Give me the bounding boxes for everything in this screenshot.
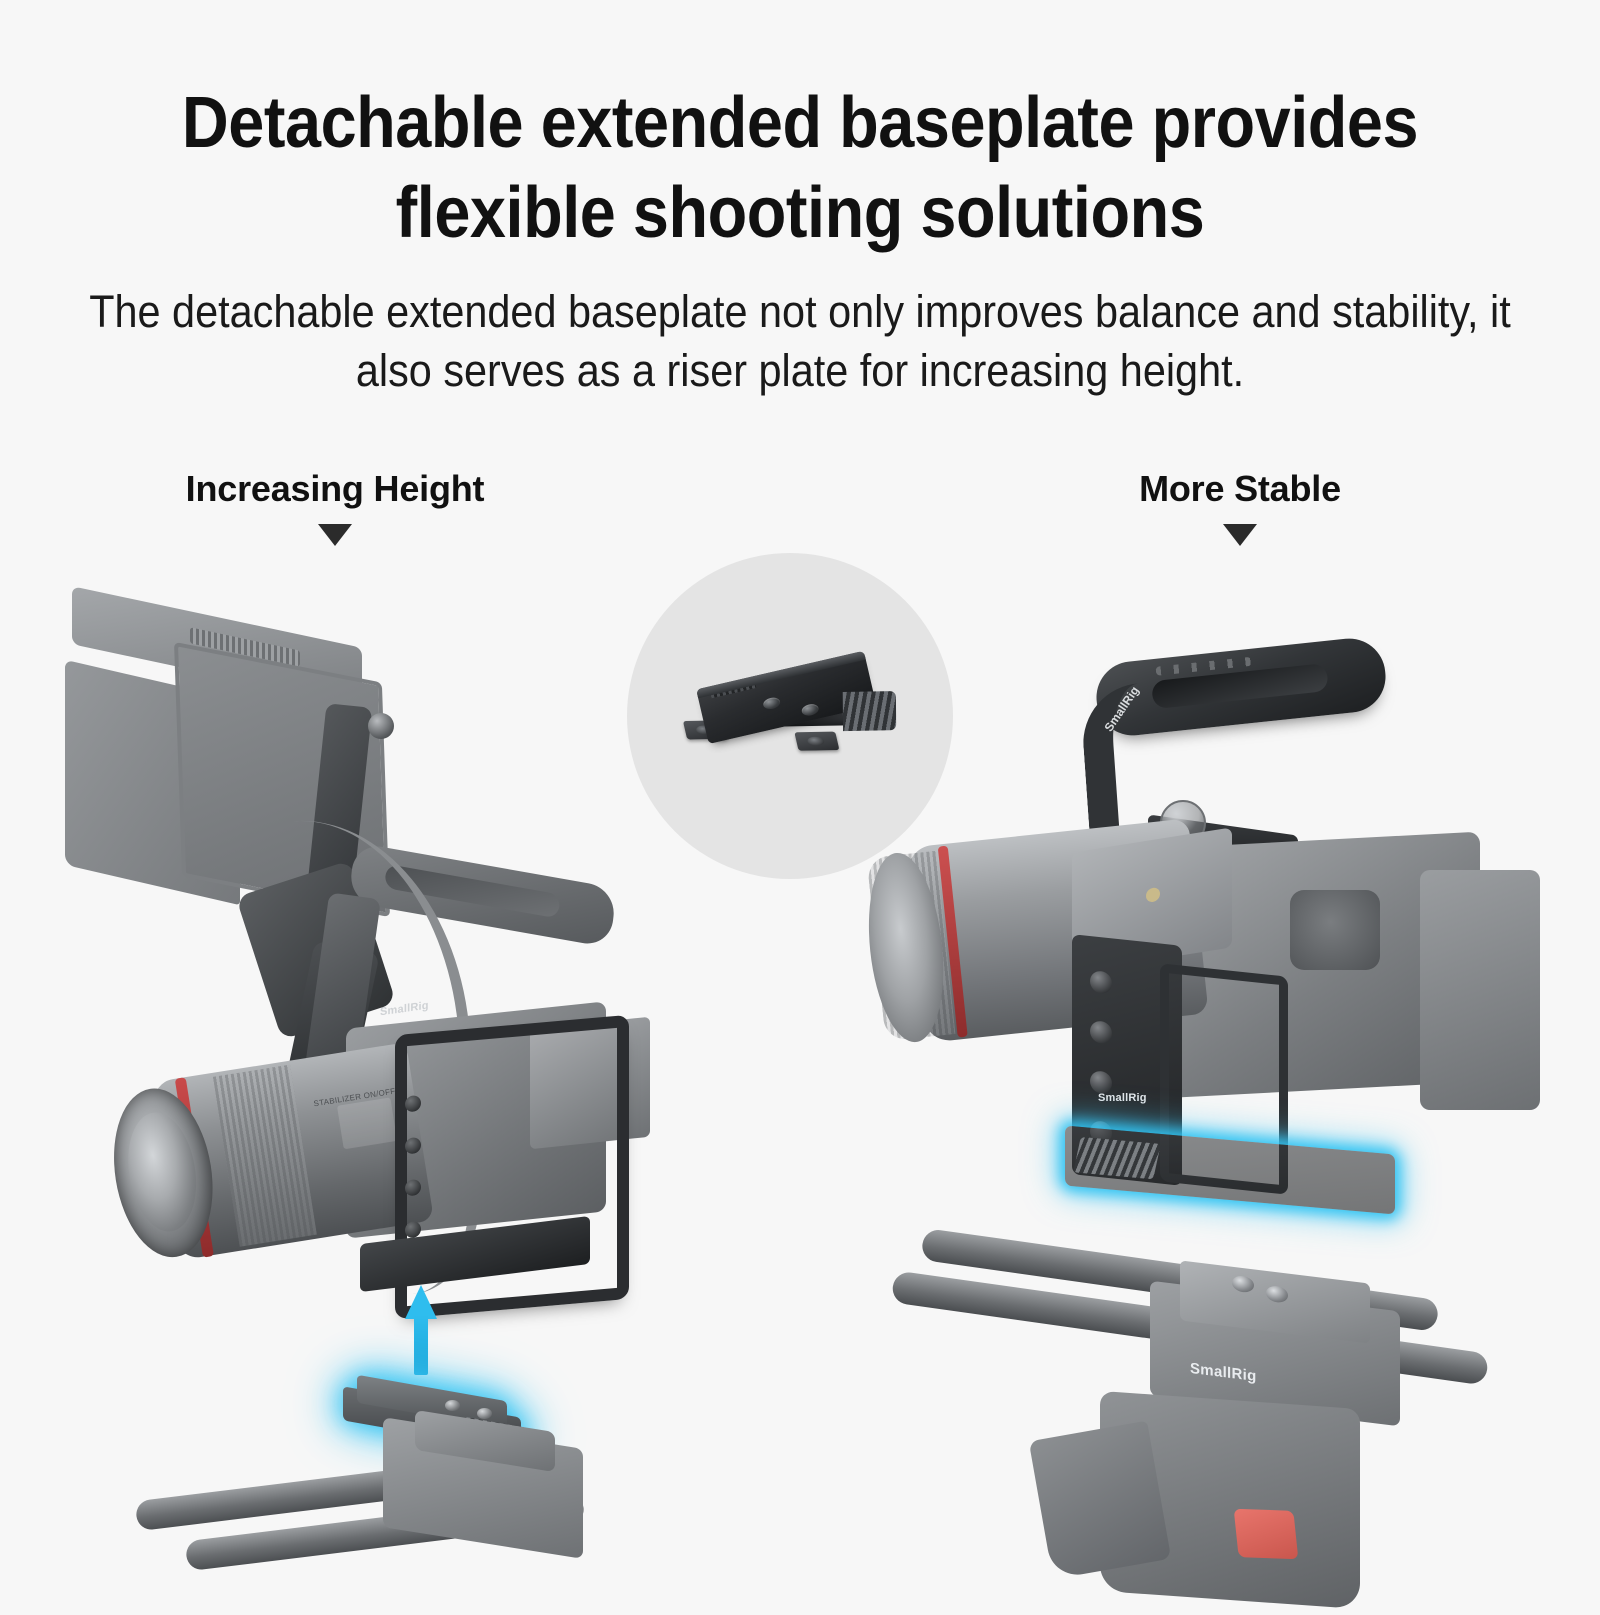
lens-switch-panel (337, 1097, 397, 1149)
right-rig-illustration: SmallRig SmallRig (860, 640, 1560, 1470)
page-subtitle: The detachable extended baseplate not on… (64, 258, 1536, 400)
tripod-pan-lever-housing (1029, 1421, 1171, 1580)
upward-arrow-icon (405, 1285, 437, 1375)
baseplate-notch (709, 678, 756, 698)
tripod-screw (1232, 1275, 1254, 1294)
tripod-fluid-head: SmallRig (890, 1240, 1550, 1600)
cage-thread-hole (1090, 1070, 1112, 1094)
cage-thread-hole (405, 1137, 421, 1154)
column-label-text: More Stable (1030, 468, 1450, 510)
marketing-page: Detachable extended baseplate provides f… (0, 0, 1600, 1600)
baseplate-mount-ear (794, 732, 839, 751)
cage-thread-hole (1090, 970, 1112, 994)
column-label-more-stable: More Stable (1030, 468, 1450, 546)
rod-riser-support (115, 1385, 675, 1615)
arrow-shaft (414, 1315, 428, 1375)
microphone-led (1146, 887, 1160, 903)
header: Detachable extended baseplate provides f… (0, 0, 1600, 400)
lens-glass (120, 1108, 204, 1237)
column-label-increasing-height: Increasing Height (125, 468, 545, 546)
cage-thread-hole (405, 1095, 421, 1112)
camera-viewfinder (1290, 890, 1380, 970)
cage-thread-hole (1090, 1020, 1112, 1044)
cage-thread-hole (405, 1179, 421, 1196)
triangle-down-icon (318, 524, 352, 546)
screw-hole (807, 737, 825, 746)
smallrig-logo-text: SmallRig (1098, 1092, 1147, 1104)
baseplate-anti-slip-ridges (1073, 1137, 1161, 1179)
monitor-knob (368, 713, 394, 739)
cage-thread-hole (405, 1221, 421, 1238)
column-label-text: Increasing Height (125, 468, 545, 510)
page-title: Detachable extended baseplate provides f… (80, 0, 1520, 258)
triangle-down-icon (1223, 524, 1257, 546)
tripod-release-tab (1234, 1509, 1299, 1560)
arrow-head (405, 1285, 437, 1319)
tripod-screw (1266, 1285, 1288, 1304)
left-rig-illustration: SmallRig STABILIZER ON/OFF (60, 585, 700, 1465)
camera-rear-screen (1420, 870, 1540, 1110)
